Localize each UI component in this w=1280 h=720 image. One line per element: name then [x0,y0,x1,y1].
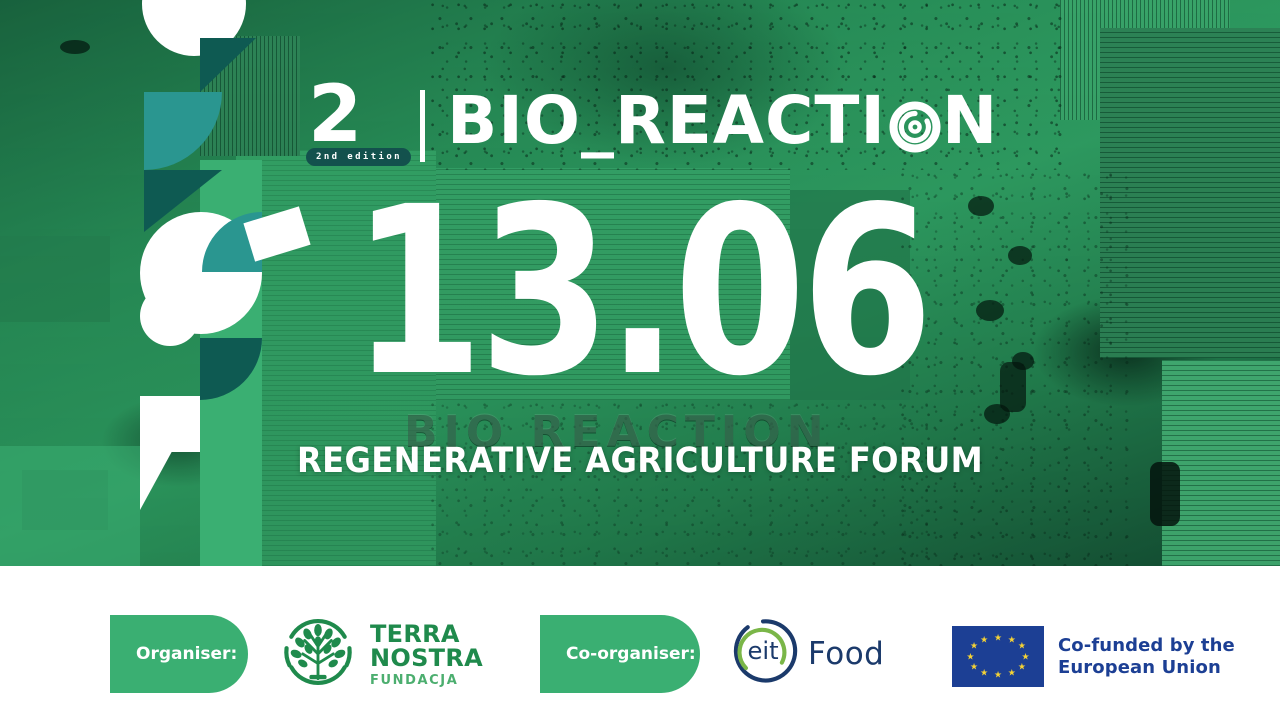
terra-line-3: FUNDACJA [370,674,483,687]
terra-line-2: NOSTRA [370,646,483,670]
promotional-banner: BIO REACTION 2 2nd edition BIO_REACTI [0,0,1280,720]
terra-line-1: TERRA [370,622,483,646]
organiser-label: Organiser: [110,615,248,693]
eu-funding-badge: ★ ★ ★ ★ ★ ★ ★ ★ ★ ★ ★ ★ Co-funded by the… [952,626,1235,687]
coorganiser-label: Co-organiser: [540,615,700,693]
deco-dark-triangle-top [200,38,256,92]
eit-food-word: Food [808,636,884,672]
svg-text:eit: eit [747,637,778,665]
deco-white-semicircle-low [140,286,200,346]
deco-green-block [0,446,140,566]
eit-food-logo: eit Food [728,616,884,691]
eu-flag-icon: ★ ★ ★ ★ ★ ★ ★ ★ ★ ★ ★ ★ [952,626,1044,687]
tree-circle-icon [278,612,358,697]
eu-line-2: European Union [1058,657,1235,678]
eu-funding-text: Co-funded by the European Union [1058,635,1235,677]
terra-nostra-logo: TERRA NOSTRA FUNDACJA [278,612,483,697]
deco-white-wedge [140,400,200,510]
eit-circle-icon: eit [728,616,798,691]
terra-nostra-text: TERRA NOSTRA FUNDACJA [370,622,483,687]
eu-line-1: Co-funded by the [1058,635,1235,656]
hero-section: BIO REACTION [0,0,1280,566]
